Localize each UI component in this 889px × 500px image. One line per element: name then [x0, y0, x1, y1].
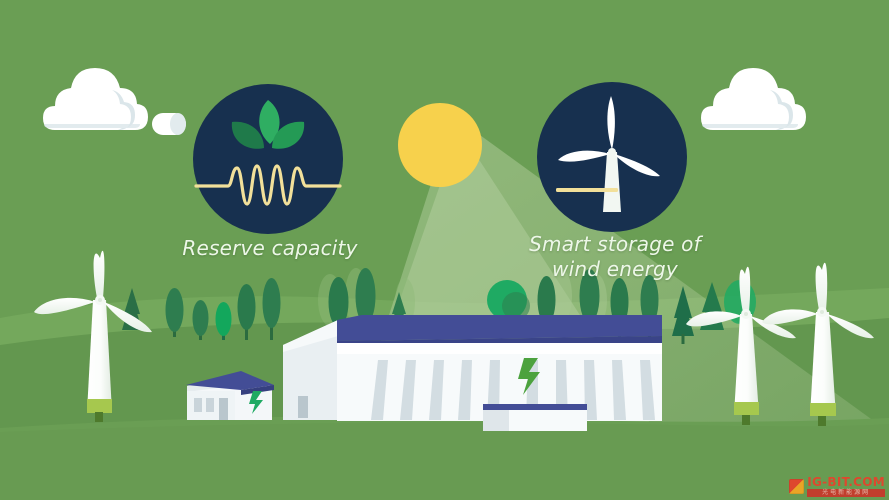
watermark-logo-icon: [789, 479, 804, 494]
illustration-canvas: Reserve capacity Smart storage of wind e…: [0, 0, 889, 500]
watermark-text: IG-BIT.COM 光电新能源网: [807, 476, 885, 497]
watermark-sub-text: 光电新能源网: [807, 489, 885, 497]
reserve-capacity-label: Reserve capacity: [160, 236, 380, 261]
turbine-left[interactable]: [34, 251, 152, 422]
watermark-main-text: IG-BIT.COM: [807, 476, 885, 488]
smart-storage-label: Smart storage of wind energy: [500, 232, 730, 282]
turbine-right-back[interactable]: [686, 267, 796, 425]
ig-bit-watermark: IG-BIT.COM 光电新能源网: [789, 476, 885, 497]
turbine-right-front[interactable]: [762, 263, 874, 426]
turbines-layer: [0, 0, 889, 500]
